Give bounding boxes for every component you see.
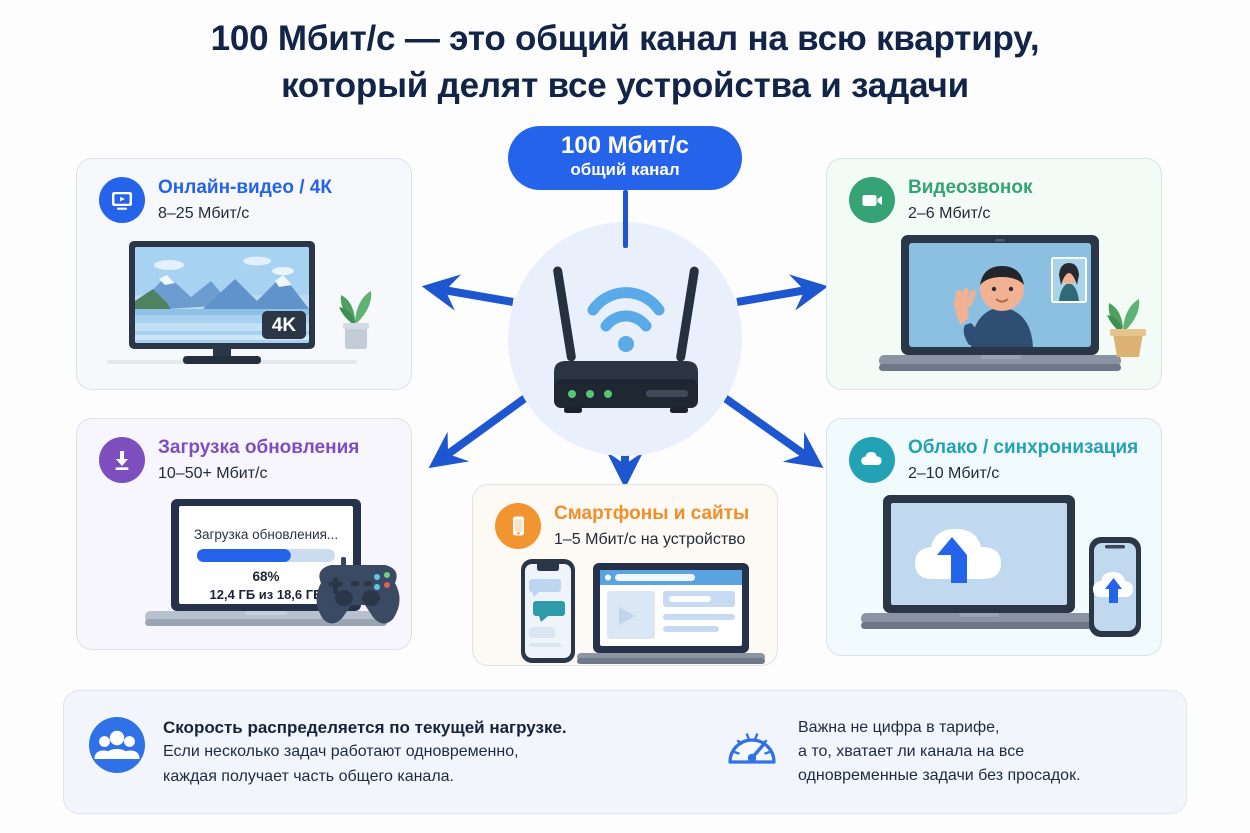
card-video-call-title: Видеозвонок — [908, 177, 1032, 199]
smartphone-icon — [495, 503, 541, 549]
wifi-router-icon — [520, 248, 732, 428]
card-cloud-sync-subtitle: 2–10 Мбит/с — [908, 465, 1138, 483]
arrow-to-cloud — [722, 396, 815, 462]
footer-right-line-2: а то, хватает ли канала на все — [798, 740, 1081, 764]
laptop-video-call — [861, 233, 1151, 383]
footer-left-headline: Скорость распределяется по текущей нагру… — [163, 715, 567, 741]
tv-4k-badge-label: 4K — [272, 315, 297, 336]
card-download-update-subtitle: 10–50+ Мбит/с — [158, 465, 359, 483]
download-percent-label: 68% — [252, 569, 279, 584]
video-camera-icon — [849, 177, 895, 223]
card-cloud-sync-head: Облако / синхронизация 2–10 Мбит/с — [849, 437, 1138, 483]
infographic-canvas: 100 Мбит/с — это общий канал на всю квар… — [0, 0, 1250, 833]
speedometer-icon — [724, 718, 780, 774]
hub-speed-label: общий канал — [508, 160, 742, 181]
card-download-update-head: Загрузка обновления 10–50+ Мбит/с — [99, 437, 359, 483]
card-download-update[interactable]: Загрузка обновления 10–50+ Мбит/с Загруз… — [76, 418, 412, 650]
download-status-label: Загрузка обновления... — [194, 527, 338, 542]
card-cloud-sync[interactable]: Облако / синхронизация 2–10 Мбит/с — [826, 418, 1162, 656]
laptop-with-gamepad: Загрузка обновления... 68% 12,4 ГБ из 18… — [93, 497, 412, 647]
arrow-to-download — [437, 396, 528, 462]
card-video-call[interactable]: Видеозвонок 2–6 Мбит/с — [826, 158, 1162, 390]
card-smartphones-sites-title: Смартфоны и сайты — [554, 503, 749, 525]
arrow-to-video — [432, 288, 513, 302]
card-video-call-head: Видеозвонок 2–6 Мбит/с — [849, 177, 1032, 223]
card-online-video[interactable]: Онлайн-видео / 4К 8–25 Мбит/с — [76, 158, 412, 390]
card-download-update-title: Загрузка обновления — [158, 437, 359, 459]
tv-with-landscape: 4K — [107, 239, 383, 381]
card-smartphones-sites[interactable]: Смартфоны и сайты 1–5 Мбит/с на устройст… — [472, 484, 778, 666]
card-cloud-sync-title: Облако / синхронизация — [908, 437, 1138, 459]
card-online-video-head: Онлайн-видео / 4К 8–25 Мбит/с — [99, 177, 332, 223]
users-group-icon — [89, 717, 145, 773]
phone-chat-and-browser — [515, 557, 765, 665]
card-online-video-title: Онлайн-видео / 4К — [158, 177, 332, 199]
footer-left-line-2: Если несколько задач работают одновремен… — [163, 740, 567, 764]
hub-speed-badge: 100 Мбит/с общий канал — [508, 126, 742, 190]
download-size-label: 12,4 ГБ из 18,6 ГБ — [210, 587, 323, 602]
download-arrow-icon — [99, 437, 145, 483]
laptop-phone-cloud-upload — [849, 493, 1149, 649]
footer-right-block: Важна не цифра в тарифе, а то, хватает л… — [724, 716, 1184, 789]
hub-speed-value: 100 Мбит/с — [508, 132, 742, 160]
cloud-icon — [849, 437, 895, 483]
footer-left-line-3: каждая получает часть общего канала. — [163, 765, 567, 789]
online-video-icon — [99, 177, 145, 223]
card-smartphones-sites-head: Смартфоны и сайты 1–5 Мбит/с на устройст… — [495, 503, 749, 549]
card-video-call-subtitle: 2–6 Мбит/с — [908, 205, 1032, 223]
download-progress-fill — [197, 549, 291, 562]
footer-left-block: Скорость распределяется по текущей нагру… — [64, 715, 724, 789]
hub-connector-stem — [623, 190, 628, 248]
footer-right-line-1: Важна не цифра в тарифе, — [798, 716, 1081, 740]
card-smartphones-sites-subtitle: 1–5 Мбит/с на устройство — [554, 531, 749, 549]
footer-panel: Скорость распределяется по текущей нагру… — [63, 690, 1187, 814]
footer-right-line-3: одновременные задачи без просадок. — [798, 764, 1081, 788]
arrow-to-call — [737, 288, 818, 302]
card-online-video-subtitle: 8–25 Мбит/с — [158, 205, 332, 223]
